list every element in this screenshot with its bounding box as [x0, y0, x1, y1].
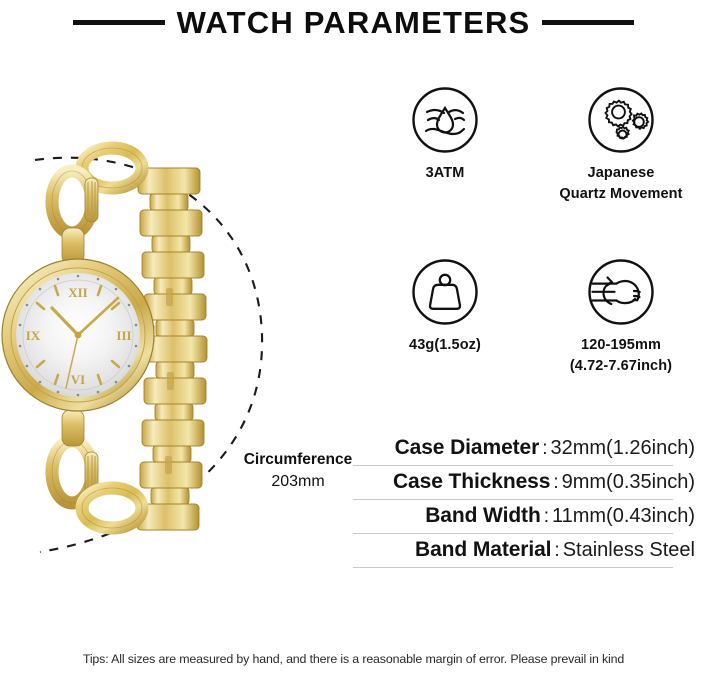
- badge-wrist-size: 120-195mm (4.72-7.67inch): [541, 258, 701, 376]
- svg-text:VI: VI: [71, 372, 85, 387]
- bracelet-chain-left-bottom: [52, 441, 142, 528]
- badge-label-wrist-size: 120-195mm (4.72-7.67inch): [541, 335, 701, 376]
- spec-value: 9mm(0.35inch): [562, 471, 695, 493]
- table-row: Case Diameter:32mm(1.26inch): [320, 432, 695, 465]
- watch-lug-bottom: [62, 410, 84, 446]
- spec-value: 32mm(1.26inch): [550, 437, 695, 459]
- svg-text:III: III: [116, 328, 131, 343]
- weight-icon: [411, 258, 479, 326]
- badge-label-water-resistance: 3ATM: [365, 163, 525, 184]
- page-title-bar: WATCH PARAMETERS: [0, 0, 707, 45]
- bracelet-chain-left-top: [52, 148, 142, 233]
- badge-water-resistance: 3ATM: [365, 86, 525, 184]
- spec-separator: :: [550, 472, 561, 493]
- spec-key: Band Width: [425, 504, 540, 527]
- spec-separator: :: [541, 506, 552, 527]
- table-row: Band Material:Stainless Steel: [320, 534, 695, 567]
- gears-icon: [587, 86, 655, 154]
- watch-product-image: XII III VI IX: [0, 120, 320, 590]
- spec-separator: :: [551, 540, 562, 561]
- spec-value: 11mm(0.43inch): [552, 505, 695, 527]
- title-rule-left: [73, 20, 165, 25]
- spec-key: Case Thickness: [393, 470, 550, 493]
- feature-badges: 3ATM Japanese Quartz Movement: [365, 86, 707, 406]
- badge-weight: 43g(1.5oz): [365, 258, 525, 356]
- table-row: Case Thickness:9mm(0.35inch): [320, 466, 695, 499]
- watch-illustration: XII III VI IX: [0, 120, 320, 590]
- spec-value: Stainless Steel: [563, 539, 695, 561]
- spec-table: Case Diameter:32mm(1.26inch) Case Thickn…: [320, 432, 695, 568]
- badge-label-movement: Japanese Quartz Movement: [541, 163, 701, 204]
- badge-movement: Japanese Quartz Movement: [541, 86, 701, 204]
- table-row: Band Width:11mm(0.43inch): [320, 500, 695, 533]
- infographic-page: WATCH PARAMETERS: [0, 0, 707, 675]
- page-title: WATCH PARAMETERS: [177, 7, 531, 38]
- footer-tips: Tips: All sizes are measured by hand, an…: [0, 652, 707, 666]
- svg-text:IX: IX: [26, 328, 41, 343]
- spec-divider: [353, 567, 673, 568]
- wrist-measure-icon: [587, 258, 655, 326]
- title-rule-right: [542, 20, 634, 25]
- spec-key: Band Material: [415, 538, 551, 561]
- badge-label-weight: 43g(1.5oz): [365, 335, 525, 356]
- spec-separator: :: [539, 438, 550, 459]
- svg-text:XII: XII: [68, 285, 88, 300]
- water-drop-icon: [411, 86, 479, 154]
- watch-case: XII III VI IX: [2, 259, 154, 411]
- spec-key: Case Diameter: [395, 436, 540, 459]
